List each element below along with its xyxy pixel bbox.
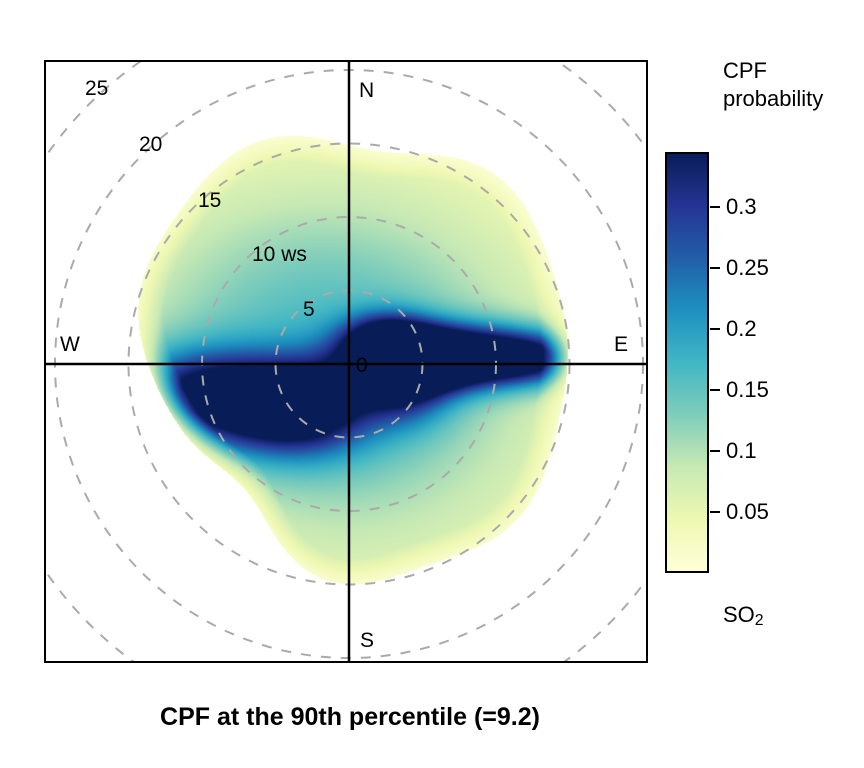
polar-cpf-surface xyxy=(46,62,646,661)
compass-label-north: N xyxy=(359,80,374,101)
page-title: CPF at the 90th percentile (=9.2) xyxy=(0,703,700,732)
ring-label-10: 10 ws xyxy=(252,244,307,265)
colorbar-title: CPF probability xyxy=(723,57,823,113)
colorbar-title-line1: CPF xyxy=(723,57,823,85)
cpf-heatmap-image xyxy=(46,62,646,661)
colorbar-tick-mark xyxy=(710,206,720,208)
ring-label-20: 20 xyxy=(139,134,162,155)
ring-label-5: 5 xyxy=(303,299,315,320)
compass-label-south: S xyxy=(360,630,374,651)
colorbar-tick-label: 0.3 xyxy=(726,196,757,218)
compass-label-west: W xyxy=(60,334,80,355)
compass-label-east: E xyxy=(614,334,628,355)
colorbar xyxy=(665,152,709,573)
colorbar-unit-label: SO2 xyxy=(723,602,764,630)
colorbar-tick-label: 0.05 xyxy=(726,501,769,523)
colorbar-tick-mark xyxy=(710,450,720,452)
colorbar-tick-label: 0.2 xyxy=(726,318,757,340)
colorbar-tick-mark xyxy=(710,267,720,269)
colorbar-tick-mark xyxy=(710,389,720,391)
ring-label-25: 25 xyxy=(85,78,108,99)
polar-plot-area xyxy=(44,60,648,663)
colorbar-tick-label: 0.25 xyxy=(726,257,769,279)
colorbar-title-line2: probability xyxy=(723,85,823,113)
colorbar-unit-sub: 2 xyxy=(755,612,764,629)
colorbar-unit-main: SO xyxy=(723,602,755,627)
polar-center-label: 0 xyxy=(356,355,368,376)
colorbar-tick-mark xyxy=(710,511,720,513)
colorbar-tick-mark xyxy=(710,328,720,330)
plot-canvas: N S E W 0 5 10 ws 15 20 25 CPF probabili… xyxy=(0,0,864,768)
colorbar-tick-label: 0.1 xyxy=(726,440,757,462)
colorbar-gradient xyxy=(667,154,707,571)
ring-label-15: 15 xyxy=(198,190,221,211)
colorbar-tick-label: 0.15 xyxy=(726,379,769,401)
